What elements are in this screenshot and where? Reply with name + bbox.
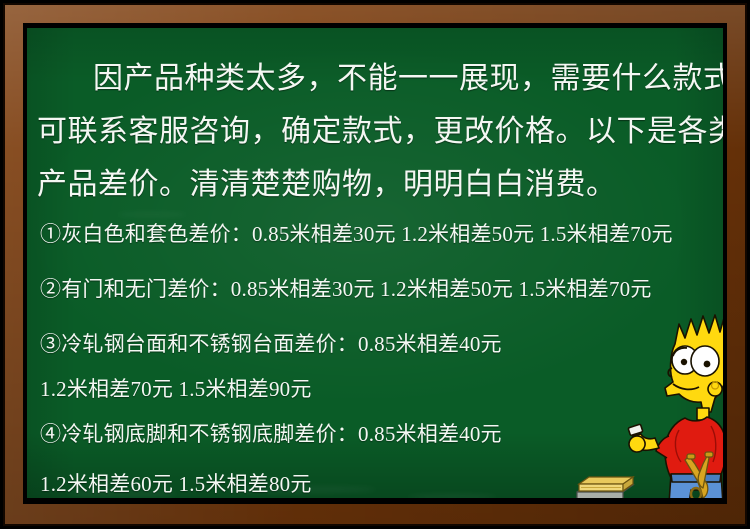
price-item-3-line-2: 1.2米相差70元 1.5米相差90元 (40, 379, 312, 400)
chalkboard-poster: 因产品种类太多，不能一一展现，需要什么款式 可联系客服咨询，确定款式，更改价格。… (0, 0, 750, 529)
price-item-1-line-1: ①灰白色和套色差价：0.85米相差30元 1.2米相差50元 1.5米相差70元 (40, 224, 673, 245)
board-inner-lip: 因产品种类太多，不能一一展现，需要什么款式 可联系客服咨询，确定款式，更改价格。… (23, 23, 727, 504)
bart-simpson-illustration (623, 308, 723, 498)
price-item-2-line-1: ②有门和无门差价：0.85米相差30元 1.2米相差50元 1.5米相差70元 (40, 279, 652, 300)
price-item-4-line-1: ④冷轧钢底脚和不锈钢底脚差价：0.85米相差40元 (40, 424, 502, 445)
price-item-3-line-1: ③冷轧钢台面和不锈钢台面差价：0.85米相差40元 (40, 334, 502, 355)
price-item-4-line-2: 1.2米相差60元 1.5米相差80元 (40, 474, 312, 495)
chalkboard-surface: 因产品种类太多，不能一一展现，需要什么款式 可联系客服咨询，确定款式，更改价格。… (27, 28, 723, 498)
wooden-frame: 因产品种类太多，不能一一展现，需要什么款式 可联系客服咨询，确定款式，更改价格。… (3, 3, 747, 526)
intro-line-3: 产品差价。清清楚楚购物，明明白白消费。 (37, 170, 715, 200)
intro-line-1: 因产品种类太多，不能一一展现，需要什么款式 (37, 64, 715, 94)
chalk-text-layer: 因产品种类太多，不能一一展现，需要什么款式 可联系客服咨询，确定款式，更改价格。… (27, 28, 723, 498)
intro-line-2: 可联系客服咨询，确定款式，更改价格。以下是各类 (37, 117, 715, 147)
